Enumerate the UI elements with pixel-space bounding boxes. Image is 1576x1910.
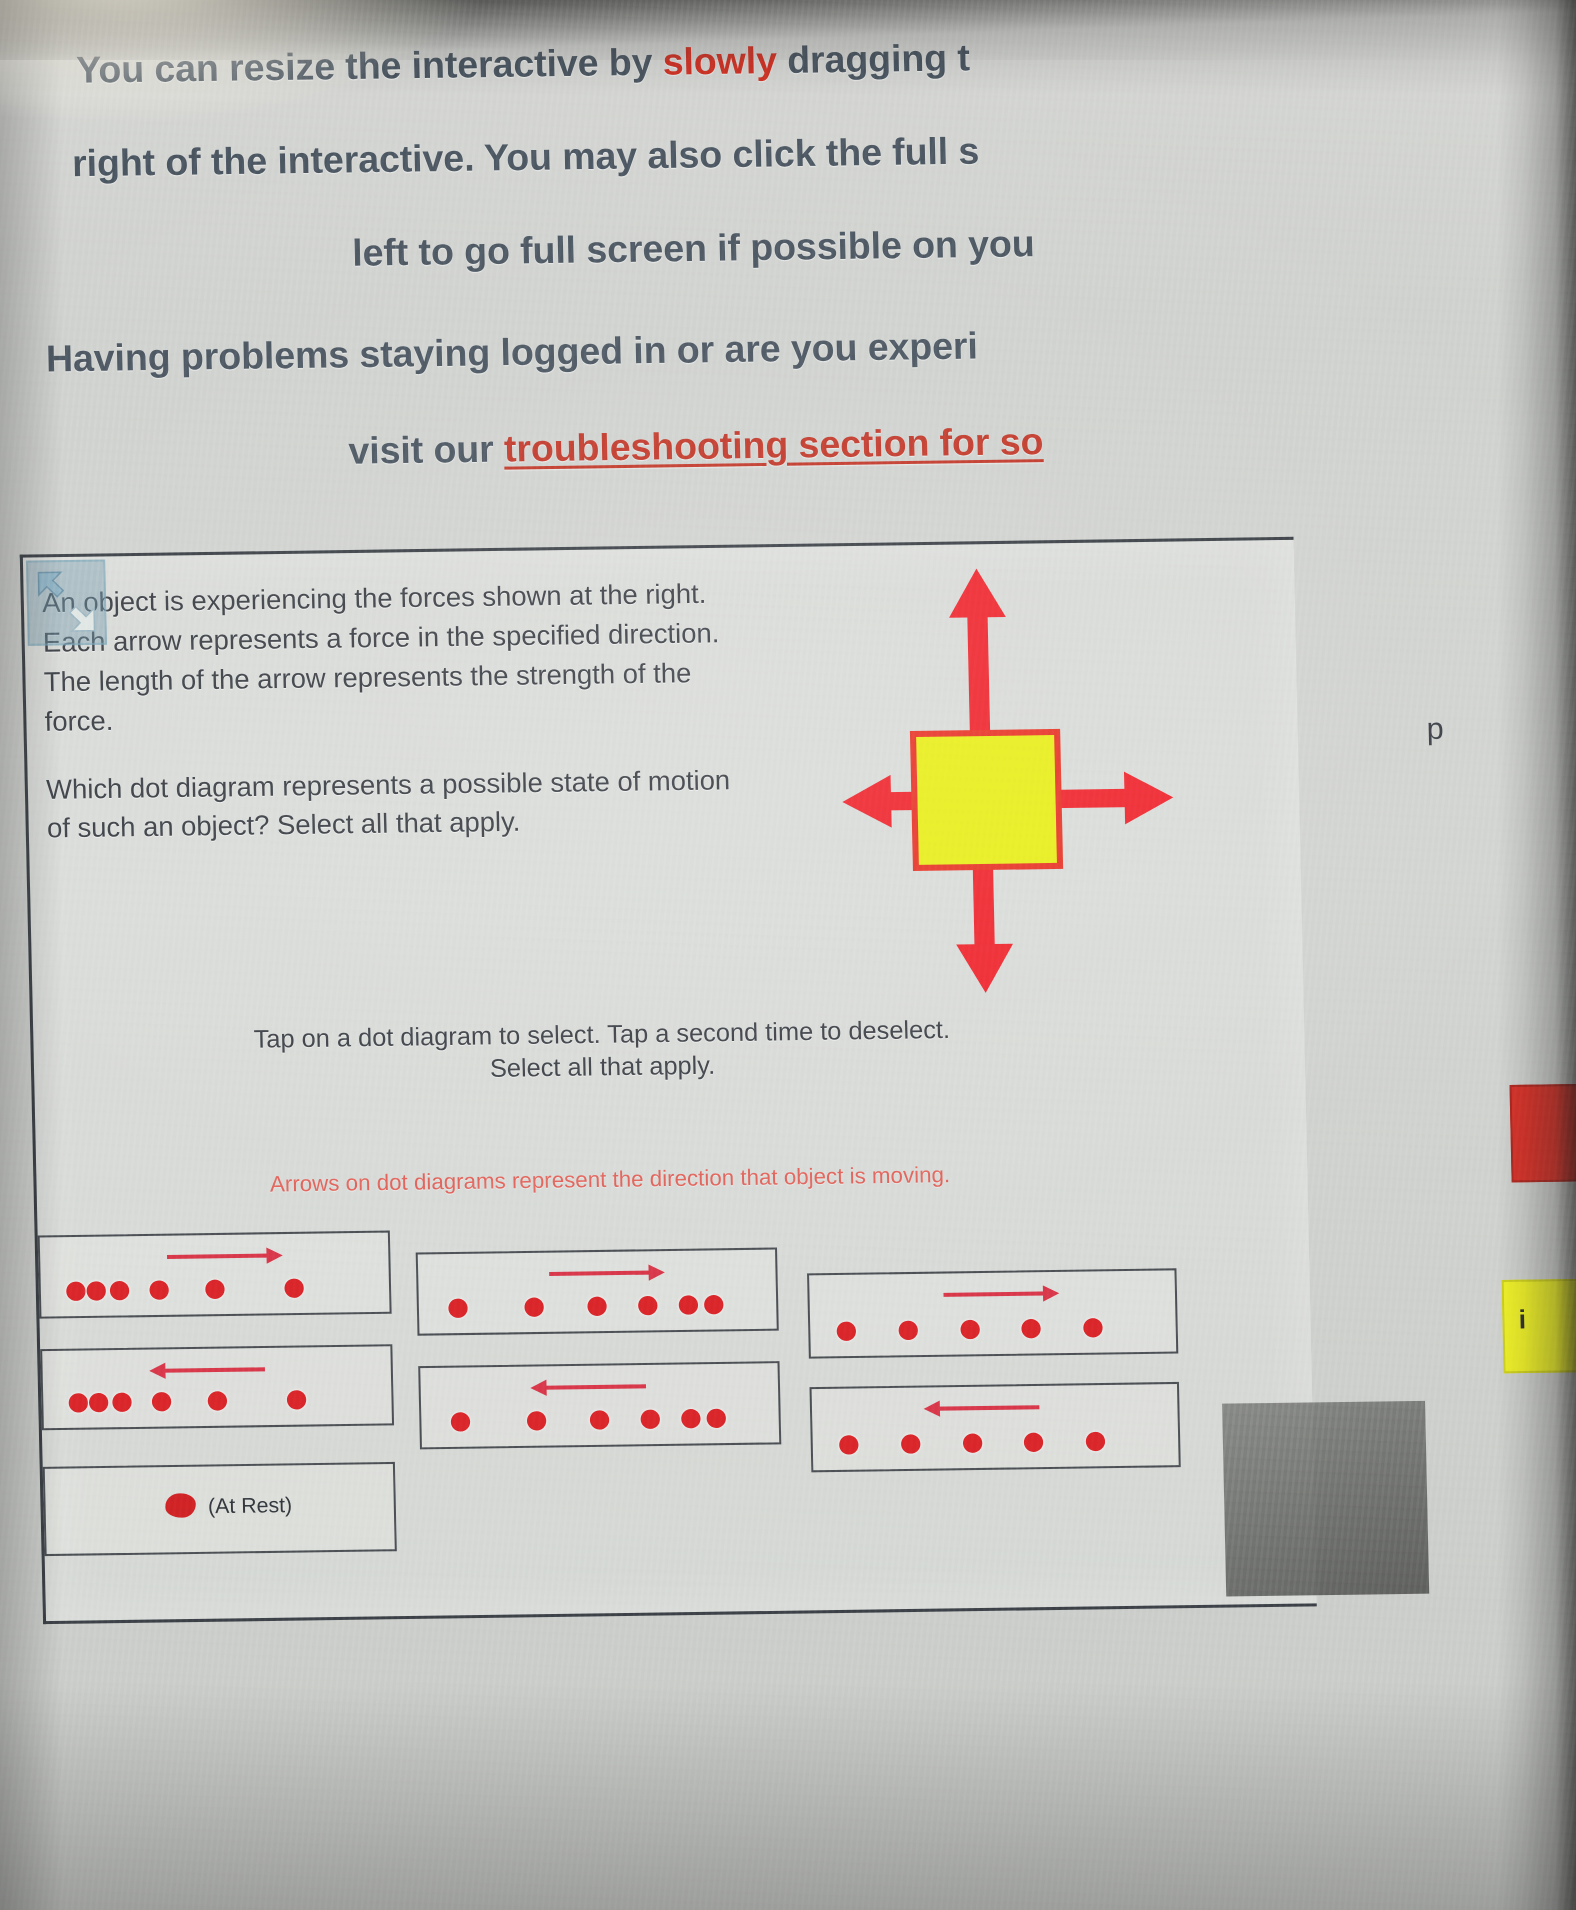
dot-diagram-option-2[interactable] xyxy=(416,1247,779,1335)
dot-marker xyxy=(901,1434,921,1454)
header-line-1-part-b: dragging t xyxy=(776,37,970,81)
dot-diagram-grid: (At Rest) xyxy=(38,1218,1307,1236)
troubleshooting-link[interactable]: troubleshooting section for so xyxy=(503,421,1043,470)
header-line-5: visit our troubleshooting section for so xyxy=(348,421,1044,473)
direction-arrow-left-icon xyxy=(528,1373,648,1401)
dot-marker xyxy=(836,1321,856,1341)
direction-arrow-left-icon xyxy=(921,1394,1041,1422)
direction-arrow-right-icon xyxy=(547,1259,667,1287)
dot-marker xyxy=(1086,1432,1106,1452)
header-line-1: You can resize the interactive by slowly… xyxy=(76,37,970,92)
force-diagram-object xyxy=(913,732,1060,868)
header-line-4: Having problems staying logged in or are… xyxy=(45,325,978,381)
force-diagram-svg xyxy=(825,551,1231,1003)
force-arrow-up xyxy=(948,568,1009,752)
dot-diagram-option-5[interactable] xyxy=(418,1361,781,1449)
photographed-screen: You can resize the interactive by slowly… xyxy=(0,0,1576,1910)
dot-marker xyxy=(524,1297,544,1317)
direction-arrow-right-icon xyxy=(941,1280,1061,1308)
dot-diagram-option-at-rest[interactable]: (At Rest) xyxy=(43,1462,397,1556)
dot-marker xyxy=(587,1297,607,1317)
dot-marker xyxy=(898,1321,918,1341)
resize-handle-icon[interactable] xyxy=(26,559,107,645)
dot-marker xyxy=(590,1410,610,1430)
dot-marker xyxy=(1022,1319,1042,1339)
dot-marker xyxy=(89,1393,109,1413)
dot-marker xyxy=(962,1433,982,1453)
dot-marker xyxy=(839,1435,859,1455)
side-badge-label: i xyxy=(1518,1304,1526,1336)
arrow-note: Arrows on dot diagrams represent the dir… xyxy=(189,1161,1032,1199)
dot-marker xyxy=(1083,1318,1103,1338)
dot-marker xyxy=(109,1281,129,1301)
dot-marker xyxy=(679,1295,699,1315)
header-line-2: right of the interactive. You may also c… xyxy=(72,130,980,185)
force-diagram xyxy=(825,551,1231,1003)
screenshot-root: You can resize the interactive by slowly… xyxy=(0,0,1576,1910)
dot-marker xyxy=(526,1411,546,1431)
tap-instructions: Tap on a dot diagram to select. Tap a se… xyxy=(175,1013,1029,1090)
dot-marker xyxy=(287,1390,307,1410)
dot-marker xyxy=(66,1281,86,1301)
header-line-5-prefix: visit our xyxy=(348,428,504,472)
dot-marker xyxy=(152,1392,172,1412)
dot-marker xyxy=(450,1412,470,1432)
header-line-3: left to go full screen if possible on yo… xyxy=(352,223,1035,275)
dot-marker xyxy=(112,1393,132,1413)
dot-marker xyxy=(1024,1433,1044,1453)
dot-marker xyxy=(149,1280,169,1300)
dot-marker xyxy=(69,1393,89,1413)
dot-diagram-option-6[interactable] xyxy=(809,1382,1180,1472)
diagonal-resize-arrows-icon xyxy=(34,568,98,636)
at-rest-dot-cluster xyxy=(165,1493,196,1518)
bottom-right-bezel xyxy=(1222,1401,1429,1597)
dot-diagram-option-3[interactable] xyxy=(807,1268,1178,1358)
dot-diagram-option-1[interactable] xyxy=(38,1231,392,1319)
dot-marker xyxy=(640,1409,660,1429)
header-emphasis-slowly: slowly xyxy=(662,40,777,83)
dot-marker xyxy=(205,1280,225,1300)
dot-diagram-option-4[interactable] xyxy=(40,1344,394,1430)
question-paragraph-2: Which dot diagram represents a possible … xyxy=(46,760,758,849)
at-rest-label: (At Rest) xyxy=(208,1494,293,1520)
dot-marker xyxy=(448,1298,468,1318)
side-cut-text: p xyxy=(1426,712,1444,747)
dot-marker xyxy=(704,1295,724,1315)
interactive-panel: An object is experiencing the forces sho… xyxy=(20,537,1317,1624)
dot-marker xyxy=(707,1409,727,1429)
dot-marker xyxy=(960,1320,980,1340)
side-yellow-badge[interactable]: i xyxy=(1502,1279,1576,1374)
direction-arrow-left-icon xyxy=(147,1356,267,1384)
dot-marker xyxy=(285,1278,305,1298)
side-red-button[interactable] xyxy=(1510,1084,1576,1182)
question-text: An object is experiencing the forces sho… xyxy=(42,574,758,849)
direction-arrow-right-icon xyxy=(165,1242,285,1270)
dot-marker xyxy=(682,1409,702,1429)
header-line-1-part-a: You can resize the interactive by xyxy=(76,41,663,91)
question-paragraph-1: An object is experiencing the forces sho… xyxy=(42,574,756,742)
dot-marker xyxy=(207,1391,227,1411)
dot-marker xyxy=(638,1296,658,1316)
dot-marker xyxy=(86,1281,106,1301)
